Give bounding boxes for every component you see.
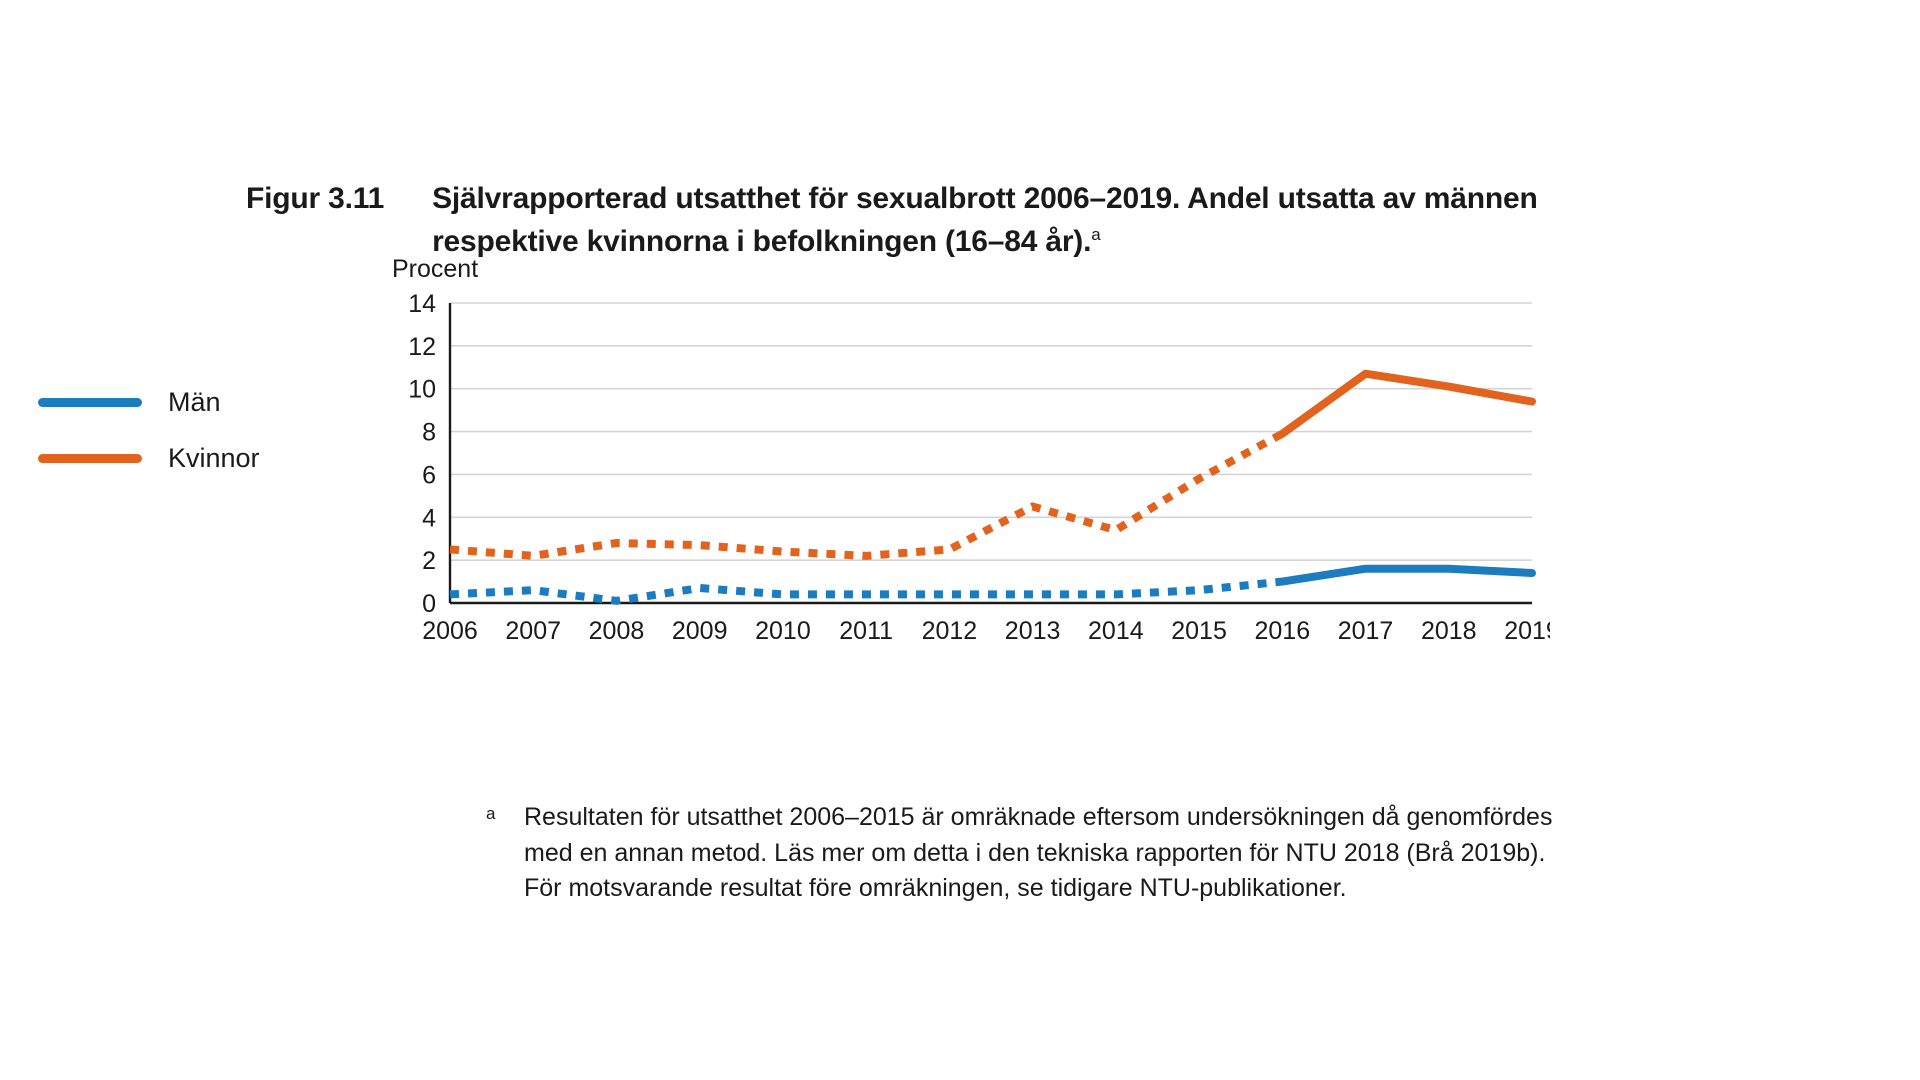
x-axis-tick-label: 2013	[1005, 617, 1061, 645]
series-line-dashed-kvinnor	[450, 434, 1282, 556]
chart-legend: Män Kvinnor	[38, 374, 338, 486]
legend-item-man[interactable]: Män	[38, 374, 338, 430]
series-line-solid-kvinnor	[1282, 374, 1532, 434]
figure-title-block: Figur 3.11 Självrapporterad utsatthet fö…	[246, 178, 1646, 263]
figure-title-line-1: Självrapporterad utsatthet för sexualbro…	[432, 182, 1538, 215]
x-axis-tick-label: 2008	[589, 617, 645, 645]
y-axis-tick-label: 8	[422, 419, 436, 447]
footnote-text: Resultaten för utsatthet 2006–2015 är om…	[524, 800, 1566, 907]
line-swatch-icon	[38, 398, 142, 407]
line-chart-plot: 0246810121420062007200820092010201120122…	[390, 255, 1550, 655]
chart-container: Procent 02468101214200620072008200920102…	[390, 255, 1550, 655]
y-axis-tick-label: 6	[422, 461, 436, 489]
footnote-block: a Resultaten för utsatthet 2006–2015 är …	[486, 800, 1566, 907]
series-line-dashed-män	[450, 582, 1282, 601]
x-axis-tick-label: 2011	[839, 617, 893, 645]
y-axis-tick-label: 2	[422, 547, 436, 575]
y-axis-tick-label: 0	[422, 590, 436, 618]
legend-item-kvinnor[interactable]: Kvinnor	[38, 430, 338, 486]
figure-title-footnote-marker: a	[1091, 225, 1100, 244]
x-axis-tick-label: 2016	[1254, 617, 1310, 645]
y-axis-tick-label: 12	[408, 333, 436, 361]
x-axis-tick-label: 2012	[922, 617, 978, 645]
x-axis-tick-label: 2017	[1338, 617, 1394, 645]
y-axis-tick-label: 4	[422, 504, 436, 532]
footnote-marker: a	[486, 800, 514, 822]
figure-number: Figur 3.11	[246, 178, 384, 221]
page-title: Självrapporterad utsatthet för sexualbro…	[432, 178, 1562, 263]
x-axis-tick-label: 2015	[1171, 617, 1227, 645]
figure-title-line-2: respektive kvinnorna i befolkningen (16–…	[432, 225, 1091, 258]
series-line-solid-män	[1282, 569, 1532, 582]
x-axis-tick-label: 2007	[505, 617, 561, 645]
y-axis-tick-label: 10	[408, 376, 436, 404]
x-axis-tick-label: 2009	[672, 617, 728, 645]
x-axis-tick-label: 2018	[1421, 617, 1477, 645]
x-axis-tick-label: 2010	[755, 617, 811, 645]
x-axis-tick-label: 2019	[1504, 617, 1550, 645]
x-axis-tick-label: 2006	[422, 617, 478, 645]
y-axis-tick-label: 14	[408, 290, 436, 318]
x-axis-tick-label: 2014	[1088, 617, 1144, 645]
line-swatch-icon	[38, 454, 142, 463]
legend-item-label: Kvinnor	[168, 443, 260, 474]
legend-item-label: Män	[168, 387, 221, 418]
